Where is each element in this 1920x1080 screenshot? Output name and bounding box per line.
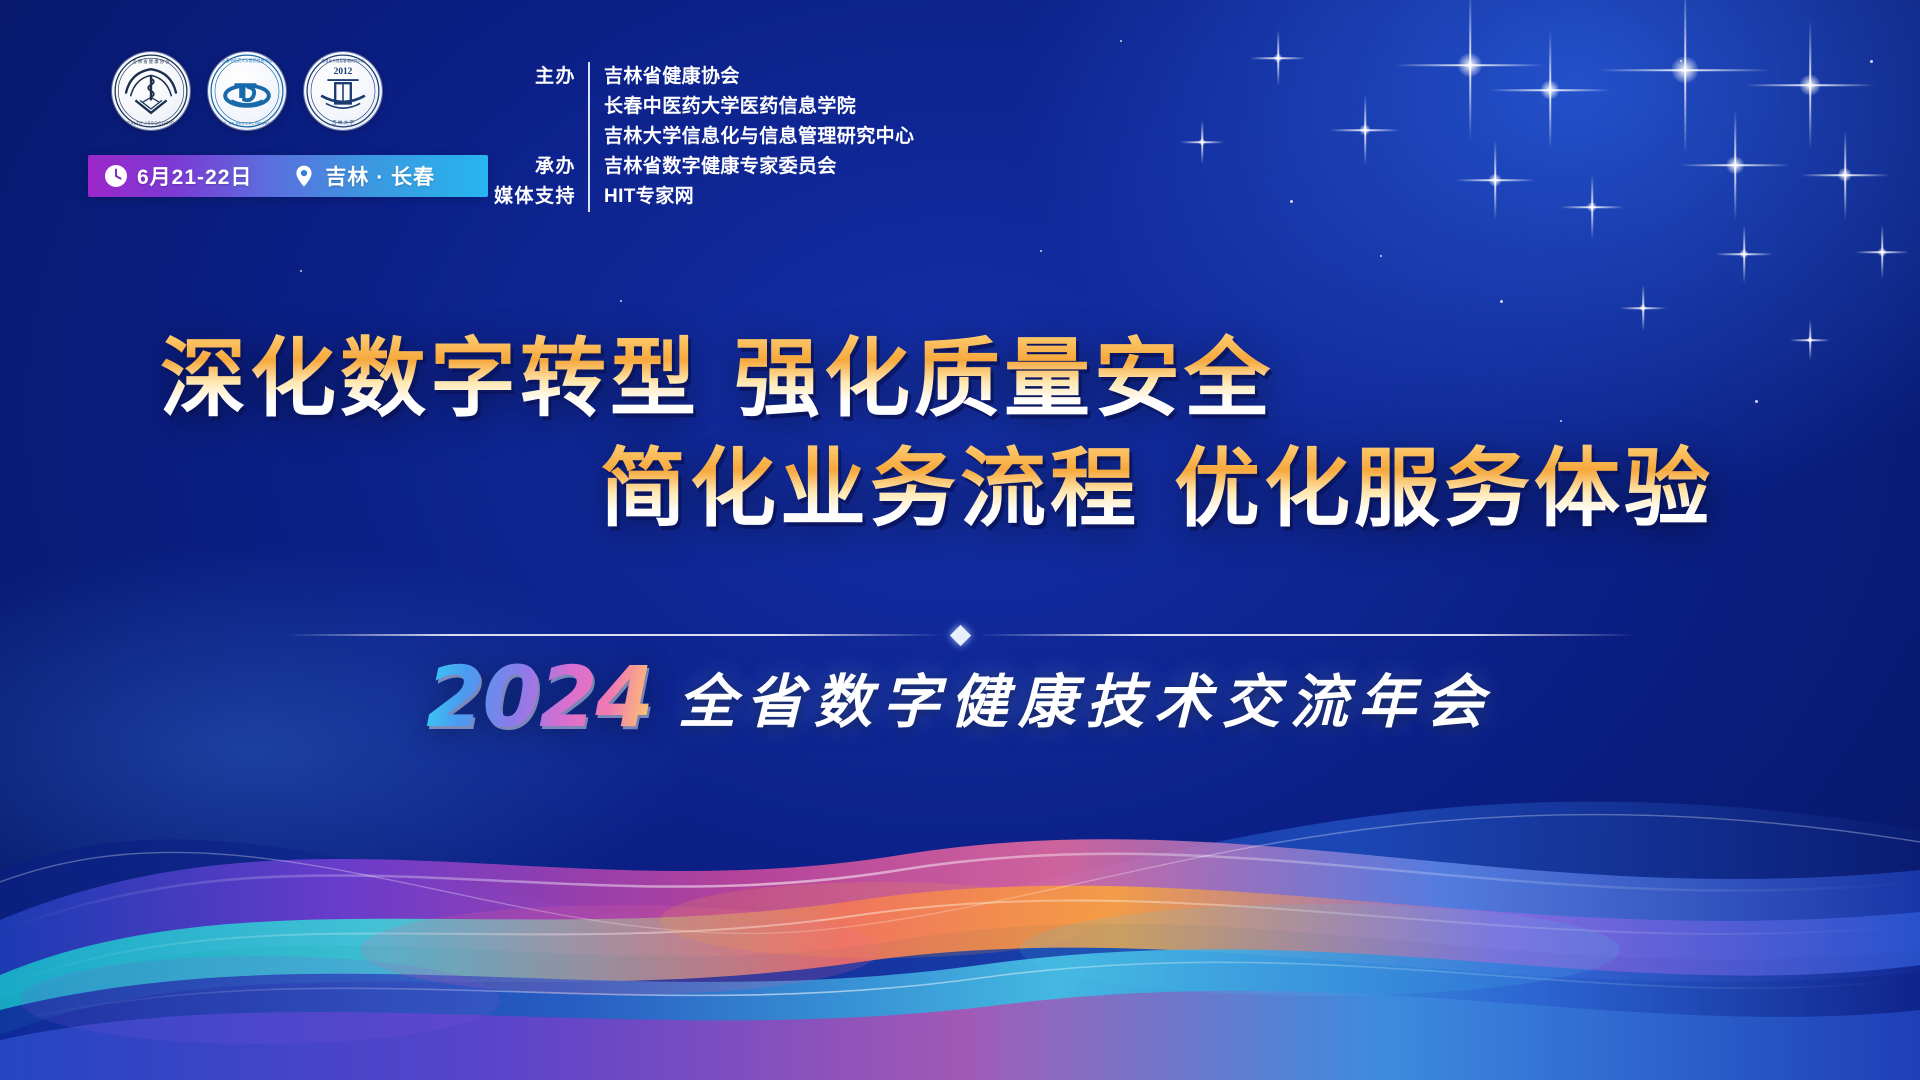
organizer-credits: 主办 吉林省健康协会 长春中医药大学医药信息学院 吉林大学信息化与信息管理研究中… [492, 62, 914, 212]
organizer-label: 主办 [492, 62, 588, 92]
star-sparkle-icon [1680, 110, 1790, 220]
star-sparkle-icon [1715, 225, 1773, 283]
star-sparkle-icon [1855, 225, 1909, 279]
organizer-label: 媒体支持 [492, 182, 588, 212]
jilin-health-association-logo: 吉 林 省 健 康 协 会 HEALTH ASSOCIATION [112, 52, 190, 130]
organizer-name-list: 吉林省数字健康专家委员会 [588, 152, 837, 182]
star-sparkle-icon [1600, 0, 1770, 155]
organizer-name: 吉林大学信息化与信息管理研究中心 [604, 122, 914, 152]
headline-block: 深化数字转型 强化质量安全 简化业务流程 优化服务体验 [0, 330, 1920, 540]
svg-text:吉 林 省 健 康 协 会: 吉 林 省 健 康 协 会 [132, 58, 170, 65]
star-sparkle-icon [1800, 130, 1890, 220]
event-meta-bar: 6月21-22日 吉林 · 长春 [88, 155, 488, 197]
organizer-label: 承办 [492, 152, 588, 182]
star-dot-icon [1040, 250, 1042, 252]
school-of-medical-information-logo: 长春中医药大学医药信息学院 SCHOOL OF MEDICAL INFORMAT… [208, 52, 286, 130]
star-dot-icon [1870, 60, 1873, 63]
star-sparkle-icon [1395, 0, 1545, 140]
svg-text:2012: 2012 [334, 67, 353, 77]
star-sparkle-icon [1620, 285, 1666, 331]
star-dot-icon [1680, 60, 1682, 62]
star-sparkle-icon [1455, 140, 1535, 220]
star-sparkle-icon [1490, 30, 1610, 150]
organizer-name-list: 吉林省健康协会 长春中医药大学医药信息学院 吉林大学信息化与信息管理研究中心 [588, 62, 914, 152]
star-dot-icon [300, 270, 302, 272]
organizer-row-co-host: 承办 吉林省数字健康专家委员会 [492, 152, 914, 182]
clock-icon [104, 164, 128, 188]
conference-banner: 吉 林 省 健 康 协 会 HEALTH ASSOCIATION 长春中医药大学… [0, 0, 1920, 1080]
organizer-name: 吉林省数字健康专家委员会 [604, 152, 837, 182]
headline-line-1: 深化数字转型 强化质量安全 [0, 330, 1920, 430]
event-location: 吉林 · 长春 [292, 161, 435, 191]
wave-ribbons-decoration [0, 620, 1920, 1080]
star-dot-icon [1380, 255, 1382, 257]
event-date-text: 6月21-22日 [137, 161, 252, 191]
organizer-name-list: HIT专家网 [588, 182, 694, 212]
star-dot-icon [1500, 300, 1503, 303]
svg-text:信息化与信息管理研究中心: 信息化与信息管理研究中心 [322, 58, 365, 63]
star-dot-icon [1290, 200, 1293, 203]
star-sparkle-icon [1250, 30, 1306, 86]
svg-text:长春中医药大学医药信息学院: 长春中医药大学医药信息学院 [222, 58, 273, 63]
star-sparkle-icon [1745, 20, 1875, 150]
star-sparkle-icon [1180, 120, 1224, 164]
svg-text:吉 林 大 学: 吉 林 大 学 [332, 119, 354, 126]
informatization-research-center-logo: 2012 信息化与信息管理研究中心 吉 林 大 学 [304, 52, 382, 130]
organizer-name: HIT专家网 [604, 182, 694, 212]
svg-text:SCHOOL OF MEDICAL INFORMATION: SCHOOL OF MEDICAL INFORMATION [211, 122, 284, 126]
organizer-name: 长春中医药大学医药信息学院 [604, 92, 914, 122]
svg-text:HEALTH ASSOCIATION: HEALTH ASSOCIATION [124, 121, 179, 126]
star-sparkle-icon [1330, 95, 1400, 165]
star-sparkle-icon [1560, 175, 1624, 239]
organizer-name: 吉林省健康协会 [604, 62, 914, 92]
headline-line-2: 简化业务流程 优化服务体验 [0, 440, 1920, 540]
organizer-row-host: 主办 吉林省健康协会 长春中医药大学医药信息学院 吉林大学信息化与信息管理研究中… [492, 62, 914, 152]
event-location-text: 吉林 · 长春 [325, 161, 435, 191]
event-date: 6月21-22日 [104, 161, 252, 191]
star-dot-icon [620, 300, 622, 302]
map-pin-icon [292, 164, 316, 188]
organizer-row-media: 媒体支持 HIT专家网 [492, 182, 914, 212]
organizer-logos: 吉 林 省 健 康 协 会 HEALTH ASSOCIATION 长春中医药大学… [112, 52, 382, 130]
star-dot-icon [1120, 40, 1122, 42]
